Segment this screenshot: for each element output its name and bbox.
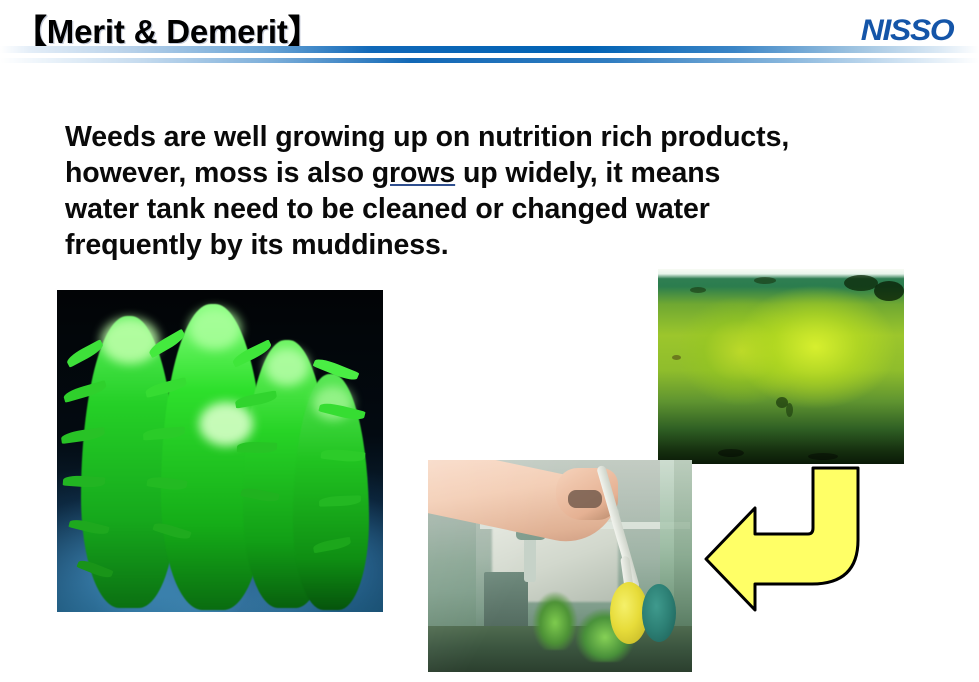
curved-left-arrow-icon [700,462,882,614]
body-line-2-underlined: grows [372,157,455,189]
body-line-1: Weeds are well growing up on nutrition r… [65,121,789,153]
body-line-3: water tank need to be cleaned or changed… [65,193,710,225]
tank-cleaning-photo [428,460,692,672]
header-divider-thick [0,46,979,53]
body-line-2-suffix: up widely, it means [455,157,720,189]
body-line-4: frequently by its muddiness. [65,229,449,261]
slide-header: 【Merit & Demerit】 NISSO [0,0,979,68]
aquatic-plant-photo [57,290,383,612]
slide-canvas: 【Merit & Demerit】 NISSO Weeds are well g… [0,0,979,682]
body-line-2-prefix: however, moss is also [65,157,372,189]
body-paragraph: Weeds are well growing up on nutrition r… [65,119,945,263]
header-divider-thin [0,58,979,63]
algae-water-photo [658,269,904,464]
nisso-logo: NISSO [860,14,953,48]
